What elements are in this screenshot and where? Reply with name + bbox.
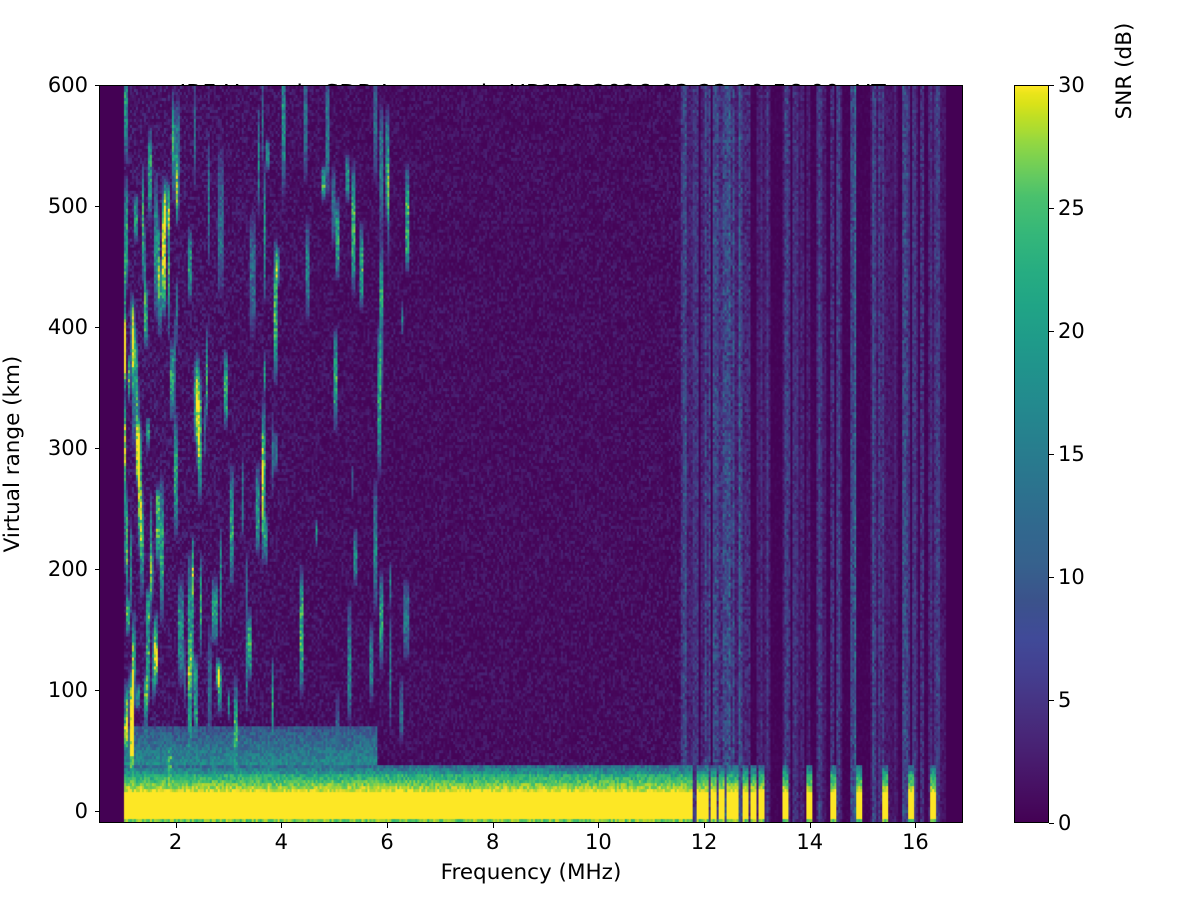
colorbar-tick-label: 30 [1058, 73, 1085, 97]
ionogram-heatmap[interactable] [100, 86, 962, 822]
y-tick-mark [95, 811, 100, 812]
ionogram-axes[interactable] [99, 85, 963, 823]
x-tick-mark [810, 823, 811, 828]
colorbar-tick-mark [1049, 331, 1054, 332]
y-tick-mark [95, 206, 100, 207]
x-tick-mark [704, 823, 705, 828]
colorbar-label: SNR (dB) [1112, 0, 1140, 440]
x-tick-mark [493, 823, 494, 828]
colorbar-tick-label: 0 [1058, 811, 1071, 835]
x-axis-label: Frequency (MHz) [99, 860, 963, 885]
colorbar-tick-mark [1049, 85, 1054, 86]
x-tick-mark [281, 823, 282, 828]
x-tick-label: 16 [902, 830, 929, 854]
y-tick-mark [95, 85, 100, 86]
x-tick-mark [387, 823, 388, 828]
colorbar-tick-label: 15 [1058, 442, 1085, 466]
x-tick-label: 2 [169, 830, 182, 854]
y-tick-label: 0 [75, 799, 88, 823]
x-tick-label: 6 [380, 830, 393, 854]
colorbar-tick-mark [1049, 823, 1054, 824]
colorbar-tick-label: 5 [1058, 688, 1071, 712]
y-tick-label: 300 [48, 436, 88, 460]
y-tick-label: 600 [48, 73, 88, 97]
y-tick-mark [95, 690, 100, 691]
colorbar-tick-label: 25 [1058, 196, 1085, 220]
y-tick-label: 400 [48, 315, 88, 339]
y-tick-label: 200 [48, 557, 88, 581]
y-tick-mark [95, 569, 100, 570]
x-tick-label: 14 [796, 830, 823, 854]
x-tick-label: 8 [486, 830, 499, 854]
x-tick-label: 10 [585, 830, 612, 854]
colorbar-tick-mark [1049, 577, 1054, 578]
colorbar-tick-label: 10 [1058, 565, 1085, 589]
colorbar-tick-mark [1049, 700, 1054, 701]
figure-canvas: IRF Uppsala SDR Ionosonde UP158 2026-03-… [0, 0, 1200, 900]
y-tick-label: 100 [48, 678, 88, 702]
y-axis-label: Virtual range (km) [0, 85, 30, 823]
snr-colorbar[interactable] [1014, 85, 1049, 823]
x-tick-mark [176, 823, 177, 828]
colorbar-tick-mark [1049, 208, 1054, 209]
y-tick-label: 500 [48, 194, 88, 218]
x-tick-mark [598, 823, 599, 828]
x-tick-mark [915, 823, 916, 828]
colorbar-tick-label: 20 [1058, 319, 1085, 343]
x-tick-label: 4 [275, 830, 288, 854]
y-tick-mark [95, 327, 100, 328]
x-tick-label: 12 [691, 830, 718, 854]
colorbar-tick-mark [1049, 454, 1054, 455]
y-tick-mark [95, 448, 100, 449]
